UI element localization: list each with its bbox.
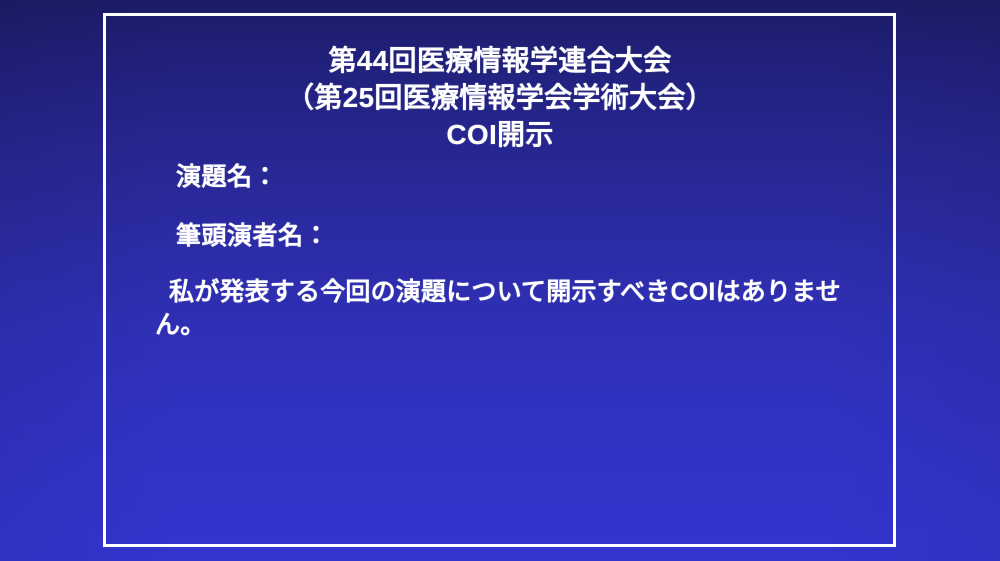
- slide-title-block: 第44回医療情報学連合大会 （第25回医療情報学会学術大会） COI開示: [0, 42, 1000, 153]
- field-presentation-title-label: 演題名：: [176, 163, 278, 191]
- field-first-author-name-label: 筆頭演者名：: [176, 222, 329, 250]
- field-first-author-name: 筆頭演者名：: [176, 221, 329, 251]
- field-presentation-title: 演題名：: [176, 162, 278, 192]
- title-line-conference: 第44回医療情報学連合大会: [0, 42, 1000, 79]
- slide-content: 第44回医療情報学連合大会 （第25回医療情報学会学術大会） COI開示 演題名…: [0, 0, 1000, 561]
- coi-disclosure-slide: 第44回医療情報学連合大会 （第25回医療情報学会学術大会） COI開示 演題名…: [0, 0, 1000, 561]
- title-line-coi-disclosure: COI開示: [0, 116, 1000, 153]
- title-line-subconference: （第25回医療情報学会学術大会）: [0, 79, 1000, 116]
- coi-statement-text: 私が発表する今回の演題について開示すべきCOIはありません。: [155, 276, 855, 342]
